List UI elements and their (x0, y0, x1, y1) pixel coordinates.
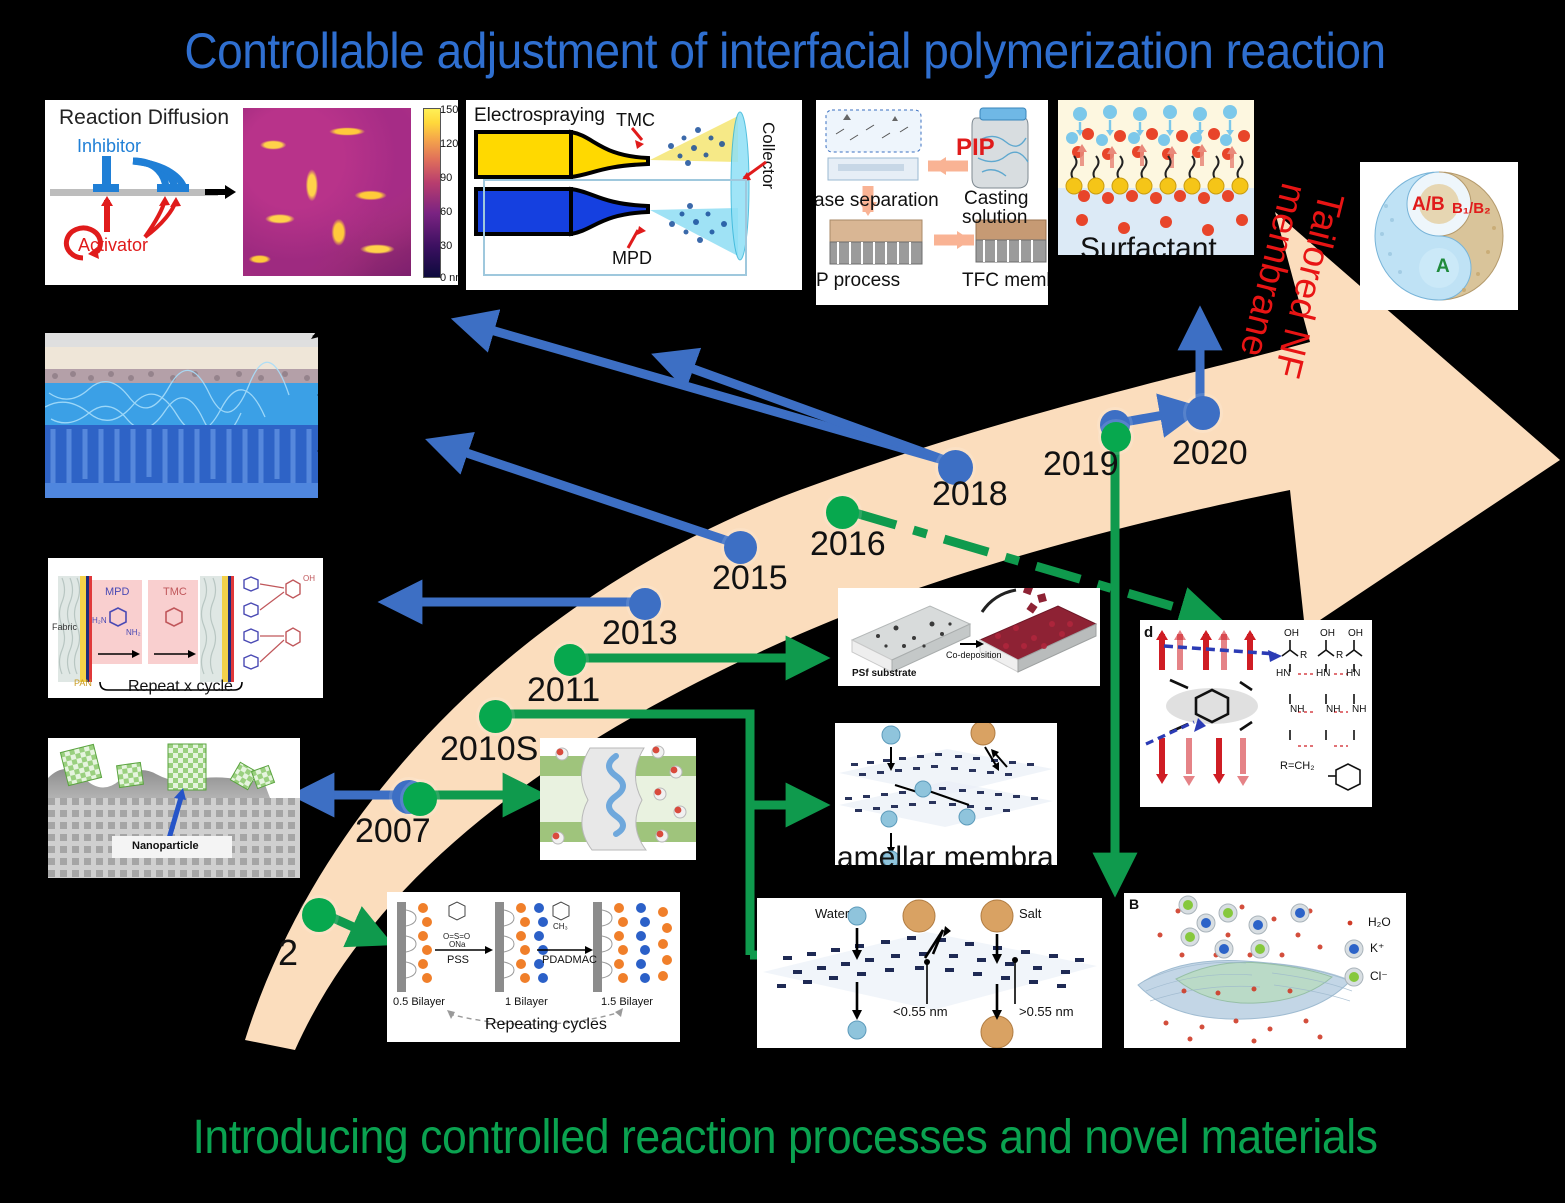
colorbar-tick-30: 30 (440, 240, 452, 252)
nh2-label: NH₂ (126, 628, 141, 637)
md-panel-letter: B (1129, 896, 1139, 912)
r-definition-label: R=CH₂ (1280, 760, 1315, 772)
panel-water-salt: Water Salt <0.55 nm >0.55 nm (757, 898, 1102, 1048)
yinyang-b1b2-label: B₁/B₂ (1452, 200, 1491, 217)
hn-label-1: HN (1276, 668, 1290, 679)
panel-phase-separation: PIP Casting solution ase separation P pr… (816, 100, 1048, 305)
oh-label-1: OH (1284, 628, 1299, 639)
timeline-year-2011: 2011 (527, 671, 600, 710)
electrospraying-schematic (466, 100, 802, 290)
r-label-1: R (1300, 650, 1307, 661)
timeline-year-2: 2 (278, 932, 298, 974)
timeline-dot-2010s[interactable] (479, 700, 512, 733)
turing-pattern-image (243, 108, 411, 276)
timeline-dot-2[interactable] (302, 898, 336, 932)
aquaporin-schematic (540, 738, 696, 860)
timeline-year-2020: 2020 (1172, 434, 1248, 473)
yinyang-ab-label: A/B (1412, 194, 1445, 216)
legend-h2o: H₂O (1368, 915, 1391, 929)
ona-label: ONa (449, 940, 465, 949)
pan-label: PAN (74, 678, 92, 688)
water-salt-schematic (757, 898, 1102, 1048)
md-simulation-schematic (1124, 893, 1406, 1048)
oh-label: OH (303, 574, 315, 583)
reaction-diffusion-schematic (45, 100, 245, 285)
colorbar-tick-120: 120 (440, 138, 458, 150)
ip-process-label: P process (816, 270, 900, 292)
figure-canvas: Controllable adjustment of interfacial p… (0, 0, 1565, 1203)
page-title-bottom: Introducing controlled reaction processe… (74, 1110, 1497, 1165)
colorbar-tick-90: 90 (440, 172, 452, 184)
legend-cl-minus: Cl⁻ (1370, 969, 1388, 983)
arrow-2018-to-reaction-diffusion (463, 322, 950, 462)
pip-label: PIP (956, 134, 995, 162)
timeline-year-2018: 2018 (932, 475, 1008, 514)
arrow-2015-to-membrane-cross-section (437, 443, 740, 545)
bilayer-1-label: 1 Bilayer (505, 996, 548, 1008)
timeline-dot-2020[interactable] (1186, 396, 1220, 430)
salt-label: Salt (1019, 906, 1041, 921)
oh-label-2: OH (1320, 628, 1335, 639)
pore-small-label: <0.55 nm (893, 1004, 948, 1019)
psf-substrate-label: PSf substrate (852, 668, 916, 679)
nanoparticle-label: Nanoparticle (132, 840, 199, 852)
repeating-cycles-label: Repeating cycles (485, 1016, 607, 1034)
legend-k-plus: K⁺ (1370, 941, 1384, 955)
colorbar-ticks: 150 120 90 60 30 0 nm (440, 102, 458, 282)
panel-aquaporin (540, 738, 696, 860)
panel-co-deposition: PSf substrate Co-deposition (838, 588, 1100, 686)
panel-reaction-diffusion: Reaction Diffusion Inhibitor Activator 1… (45, 100, 458, 285)
panel-layer-by-layer: O=S=O ONa PSS PDADMAC CH₃ 0.5 Bilayer 1 … (387, 892, 680, 1042)
panel-yin-yang: A/B B₁/B₂ A (1360, 162, 1518, 310)
tfc-membrane-label: TFC membr (962, 270, 1048, 292)
phase-separation-label: ase separation (816, 190, 939, 212)
timeline-year-2015: 2015 (712, 559, 788, 598)
hn-label-2: HN (1316, 668, 1330, 679)
hn-label-3: HN (1346, 668, 1360, 679)
panel-membrane-cross-section (45, 333, 318, 498)
lamellar-caption: amellar membra (837, 841, 1054, 865)
panel-md-simulation: B H₂O K⁺ Cl⁻ (1124, 893, 1406, 1048)
membrane-annotation-arrows (281, 333, 318, 498)
surfactant-caption: Surfactant (1080, 232, 1217, 255)
panel-nanoparticle: Nanoparticle (48, 738, 300, 878)
repeat-cycle-schematic (48, 558, 323, 698)
timeline-year-2013: 2013 (602, 614, 678, 653)
pore-large-label: >0.55 nm (1019, 1004, 1074, 1019)
casting-label-line2: solution (962, 207, 1028, 229)
panel-lamellar-membrane: amellar membra (835, 723, 1057, 865)
hbond-panel-letter: d (1144, 624, 1153, 641)
nanoparticle-schematic (48, 738, 300, 878)
r-label-2: R (1336, 650, 1343, 661)
timeline-year-2019: 2019 (1043, 445, 1119, 484)
colorbar-tick-60: 60 (440, 206, 452, 218)
arrow-2018-to-electrospraying (663, 358, 950, 462)
membrane-cross-section-graphic (45, 333, 318, 498)
yinyang-a-label: A (1436, 256, 1450, 278)
panel-electrospraying: Electrospraying TMC MPD Collector (466, 100, 802, 290)
nh-label-3: NH (1352, 704, 1366, 715)
panel-repeat-cycle: Fabric PAN MPD TMC Repeat x cycle H₂N NH… (48, 558, 323, 698)
timeline-dot-2007-green[interactable] (403, 782, 437, 816)
colorbar-tick-150: 150 (440, 104, 458, 116)
repeat-cycle-label: Repeat x cycle (128, 678, 233, 696)
co-deposition-label: Co-deposition (946, 650, 1002, 660)
nh-label-1: NH (1290, 704, 1304, 715)
pdadmac-label: PDADMAC (542, 954, 597, 966)
timeline-year-2010s: 2010S (440, 730, 538, 769)
page-title-top: Controllable adjustment of interfacial p… (90, 22, 1479, 80)
timeline-year-2007: 2007 (355, 812, 431, 851)
panel-hbond-structure: d OH OH OH HN HN HN NH NH NH R R R=CH₂ (1140, 620, 1372, 807)
fabric-label: Fabric (52, 622, 77, 632)
bilayer-05-label: 0.5 Bilayer (393, 996, 445, 1008)
colorbar-tick-0: 0 nm (440, 272, 458, 284)
nh-label-2: NH (1326, 704, 1340, 715)
mpd-reagent-label: MPD (105, 586, 129, 598)
ch3-label: CH₃ (553, 922, 568, 931)
h2n-label: H₂N (92, 616, 107, 625)
oh-label-3: OH (1348, 628, 1363, 639)
colorbar (423, 108, 441, 278)
pss-label: PSS (447, 954, 469, 966)
timeline-year-2016: 2016 (810, 525, 886, 564)
panel-surfactant: Surfactant (1058, 100, 1254, 255)
bilayer-15-label: 1.5 Bilayer (601, 996, 653, 1008)
tmc-reagent-label: TMC (163, 586, 187, 598)
water-label: Water (815, 906, 849, 921)
yin-yang-graphic (1360, 162, 1518, 310)
